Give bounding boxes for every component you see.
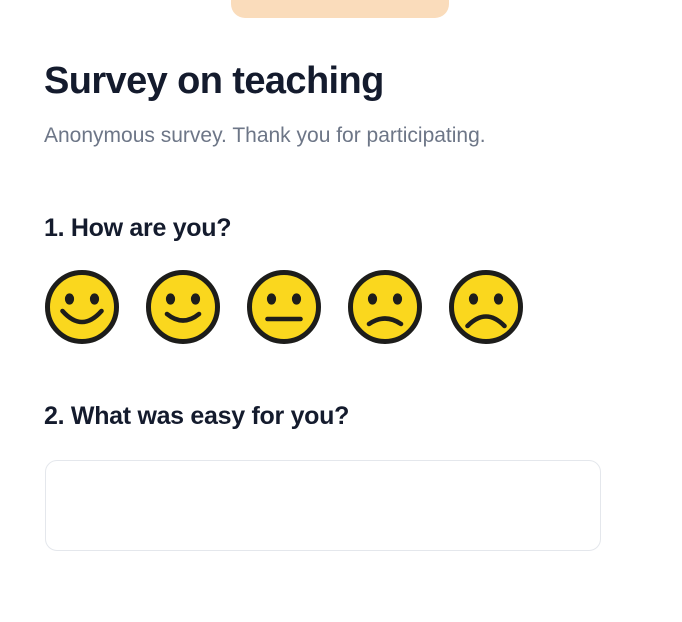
page-title: Survey on teaching xyxy=(44,58,384,104)
smiley-happy-icon[interactable] xyxy=(145,269,221,345)
smiley-very-happy-icon[interactable] xyxy=(44,269,120,345)
page-subtitle: Anonymous survey. Thank you for particip… xyxy=(44,121,486,151)
smiley-very-sad-icon[interactable] xyxy=(448,269,524,345)
smiley-neutral-icon[interactable] xyxy=(246,269,322,345)
question-2-answer-input[interactable] xyxy=(45,460,601,551)
survey-page: Survey on teaching Anonymous survey. Tha… xyxy=(0,0,682,622)
question-1-label: 1. How are you? xyxy=(44,212,231,244)
smiley-rating-scale xyxy=(44,269,524,345)
smiley-sad-icon[interactable] xyxy=(347,269,423,345)
question-2-label: 2. What was easy for you? xyxy=(44,400,349,432)
survey-content: Survey on teaching Anonymous survey. Tha… xyxy=(44,0,682,622)
